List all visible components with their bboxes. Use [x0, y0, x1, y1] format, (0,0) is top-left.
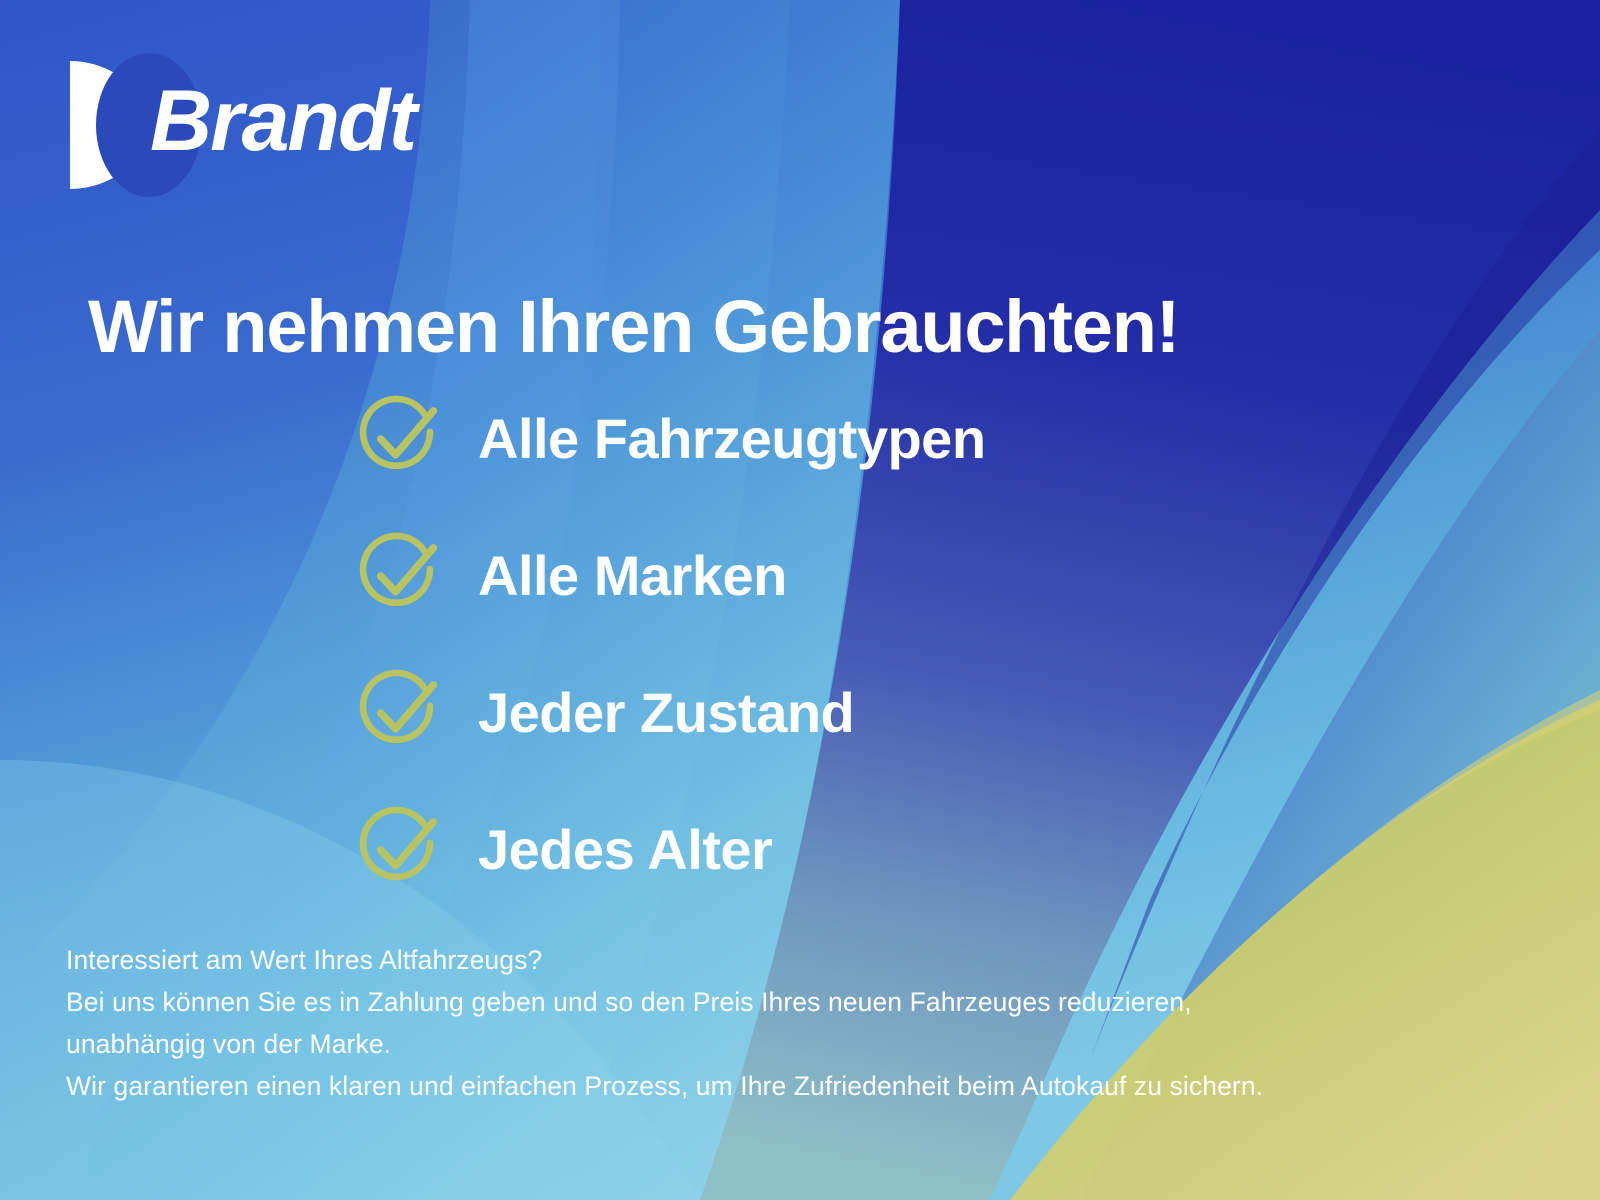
check-circle-icon — [356, 532, 444, 620]
check-circle-icon — [356, 669, 444, 757]
benefits-list: Alle Fahrzeugtypen Alle Marken Jeder Zus… — [356, 398, 986, 891]
benefit-label: Alle Marken — [478, 548, 787, 604]
check-circle-icon — [356, 395, 444, 483]
list-item: Alle Fahrzeugtypen — [356, 398, 986, 480]
brand-logo: Brandt — [70, 55, 415, 195]
brand-wordmark: Brandt — [150, 78, 415, 164]
footer-description: Interessiert am Wert Ihres Altfahrzeugs?… — [66, 940, 1526, 1107]
benefit-label: Alle Fahrzeugtypen — [478, 411, 986, 467]
list-item: Jeder Zustand — [356, 672, 986, 754]
page-title: Wir nehmen Ihren Gebrauchten! — [88, 288, 1528, 366]
promo-banner: Brandt Wir nehmen Ihren Gebrauchten! All… — [0, 0, 1600, 1200]
list-item: Jedes Alter — [356, 809, 986, 891]
benefit-label: Jeder Zustand — [478, 685, 854, 741]
footer-line-4: Wir garantieren einen klaren und einfach… — [66, 1066, 1526, 1108]
list-item: Alle Marken — [356, 535, 986, 617]
footer-line-2: Bei uns können Sie es in Zahlung geben u… — [66, 982, 1526, 1024]
footer-line-3: unabhängig von der Marke. — [66, 1024, 1526, 1066]
check-circle-icon — [356, 806, 444, 894]
footer-line-1: Interessiert am Wert Ihres Altfahrzeugs? — [66, 940, 1526, 982]
benefit-label: Jedes Alter — [478, 822, 772, 878]
brandt-mark-icon — [70, 61, 146, 189]
